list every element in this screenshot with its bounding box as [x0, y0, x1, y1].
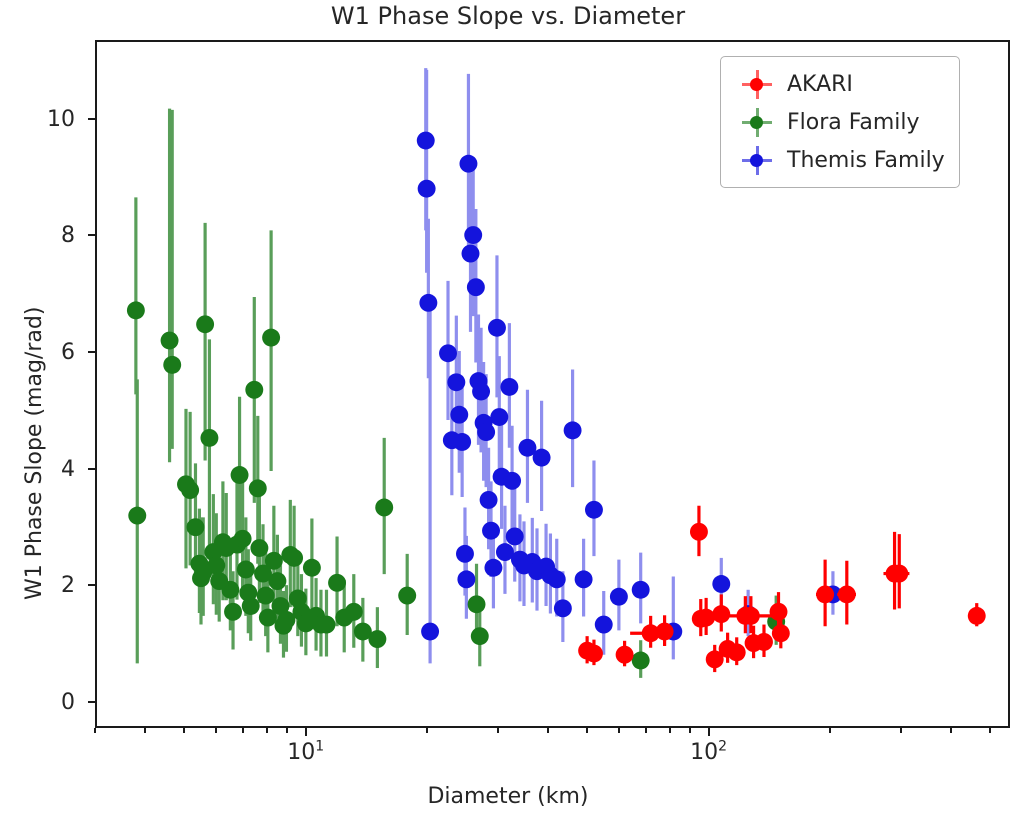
legend-item-flora[interactable]: Flora Family [731, 103, 945, 141]
data-point [506, 528, 524, 546]
data-point [375, 499, 393, 517]
legend-label-themis: Themis Family [783, 148, 945, 173]
x-tick-mark-minor [547, 728, 549, 733]
legend-item-themis[interactable]: Themis Family [731, 141, 945, 179]
data-point [242, 597, 260, 615]
data-point [398, 587, 416, 605]
y-tick-label: 4 [20, 457, 75, 482]
data-point [462, 245, 480, 263]
data-point [368, 630, 386, 648]
legend-marker-akari-icon [731, 69, 783, 99]
markers [417, 132, 842, 641]
data-point [616, 646, 634, 664]
data-point [328, 574, 346, 592]
x-tick-mark-minor [286, 728, 288, 733]
data-point [533, 449, 551, 467]
data-point [585, 645, 603, 663]
x-tick-label: 102 [690, 740, 727, 765]
legend-item-akari[interactable]: AKARI [731, 65, 945, 103]
x-tick-mark-minor [645, 728, 647, 733]
data-point [595, 616, 613, 634]
figure-root: W1 Phase Slope vs. Diameter W1 Phase Slo… [0, 0, 1016, 816]
data-point [262, 329, 280, 347]
data-point [838, 585, 856, 603]
x-tick-mark-minor [586, 728, 588, 733]
data-point [656, 623, 674, 641]
x-tick-mark-minor [242, 728, 244, 733]
data-point [468, 595, 486, 613]
data-point [585, 501, 603, 519]
data-point [161, 332, 179, 350]
data-point [163, 356, 181, 374]
data-point [419, 294, 437, 312]
data-point [712, 605, 730, 623]
x-tick-mark-minor [669, 728, 671, 733]
data-point [548, 570, 566, 588]
data-point [755, 633, 773, 651]
data-point [712, 575, 730, 593]
data-point [450, 406, 468, 424]
data-point [471, 627, 489, 645]
data-point [417, 132, 435, 150]
data-point [221, 581, 239, 599]
data-point [772, 624, 790, 642]
x-tick-mark-major [708, 728, 710, 736]
x-tick-mark-major [305, 728, 307, 736]
data-point [459, 155, 477, 173]
data-point [418, 180, 436, 198]
x-tick-mark-minor [950, 728, 952, 733]
data-point [472, 383, 490, 401]
data-point [181, 481, 199, 499]
data-point [303, 559, 321, 577]
legend-label-akari: AKARI [783, 72, 853, 97]
y-tick-label: 2 [20, 573, 75, 598]
data-point [265, 552, 283, 570]
data-point [816, 585, 834, 603]
data-point [447, 373, 465, 391]
data-point [564, 421, 582, 439]
y-tick-mark [88, 118, 95, 120]
data-point [245, 381, 263, 399]
x-tick-mark-minor [689, 728, 691, 733]
x-tick-mark-minor [989, 728, 991, 733]
data-point [196, 315, 214, 333]
data-point [237, 561, 255, 579]
data-point [890, 565, 908, 583]
data-point [482, 522, 500, 540]
data-point [457, 570, 475, 588]
data-point [456, 545, 474, 563]
y-tick-mark [88, 584, 95, 586]
y-tick-label: 10 [20, 107, 75, 132]
x-tick-mark-minor [266, 728, 268, 733]
y-tick-mark [88, 468, 95, 470]
data-point [234, 530, 252, 548]
chart-title: W1 Phase Slope vs. Diameter [0, 2, 1016, 30]
data-point [257, 587, 275, 605]
data-point [345, 603, 363, 621]
data-point [231, 466, 249, 484]
x-tick-mark-minor [900, 728, 902, 733]
y-tick-label: 0 [20, 690, 75, 715]
x-tick-label-exponent: 1 [315, 739, 324, 755]
x-tick-label-exponent: 2 [718, 739, 727, 755]
y-tick-mark [88, 701, 95, 703]
data-point [467, 278, 485, 296]
x-axis-label: Diameter (km) [0, 784, 1016, 809]
y-tick-mark [88, 351, 95, 353]
y-tick-mark [88, 234, 95, 236]
data-point [728, 643, 746, 661]
y-tick-label: 6 [20, 340, 75, 365]
x-tick-mark-minor [426, 728, 428, 733]
data-point [742, 607, 760, 625]
x-tick-label-base: 10 [690, 740, 718, 765]
x-tick-mark-minor [618, 728, 620, 733]
x-tick-mark-minor [215, 728, 217, 733]
data-point [770, 603, 788, 621]
data-point [477, 423, 495, 441]
data-point [224, 603, 242, 621]
data-point [632, 581, 650, 599]
data-point [268, 572, 286, 590]
x-tick-mark-minor [144, 728, 146, 733]
x-tick-mark-minor [94, 728, 96, 733]
data-point [490, 408, 508, 426]
data-point [464, 226, 482, 244]
data-point [690, 523, 708, 541]
data-point [503, 472, 521, 490]
data-point [439, 344, 457, 362]
data-point [484, 559, 502, 577]
x-tick-label: 101 [287, 740, 324, 765]
data-point [500, 378, 518, 396]
data-point [127, 301, 145, 319]
legend-marker-flora-icon [731, 107, 783, 137]
data-point [453, 433, 471, 451]
y-tick-label: 8 [20, 223, 75, 248]
data-point [480, 491, 498, 509]
data-point [285, 549, 303, 567]
data-point [128, 507, 146, 525]
data-point [318, 616, 336, 634]
data-point [249, 479, 267, 497]
data-point [968, 607, 986, 625]
data-point [250, 539, 268, 557]
x-tick-mark-minor [829, 728, 831, 733]
data-point [632, 652, 650, 670]
legend-marker-themis-icon [731, 145, 783, 175]
data-point [697, 609, 715, 627]
data-point [488, 319, 506, 337]
data-point [575, 570, 593, 588]
data-point [610, 588, 628, 606]
legend: AKARI Flora Family Themis Family [720, 56, 960, 188]
data-point [187, 518, 205, 536]
x-tick-mark-minor [183, 728, 185, 733]
data-point [554, 599, 572, 617]
x-tick-mark-minor [497, 728, 499, 733]
legend-label-flora: Flora Family [783, 110, 920, 135]
data-point [200, 429, 218, 447]
data-point [207, 556, 225, 574]
x-tick-label-base: 10 [287, 740, 315, 765]
data-point [421, 623, 439, 641]
